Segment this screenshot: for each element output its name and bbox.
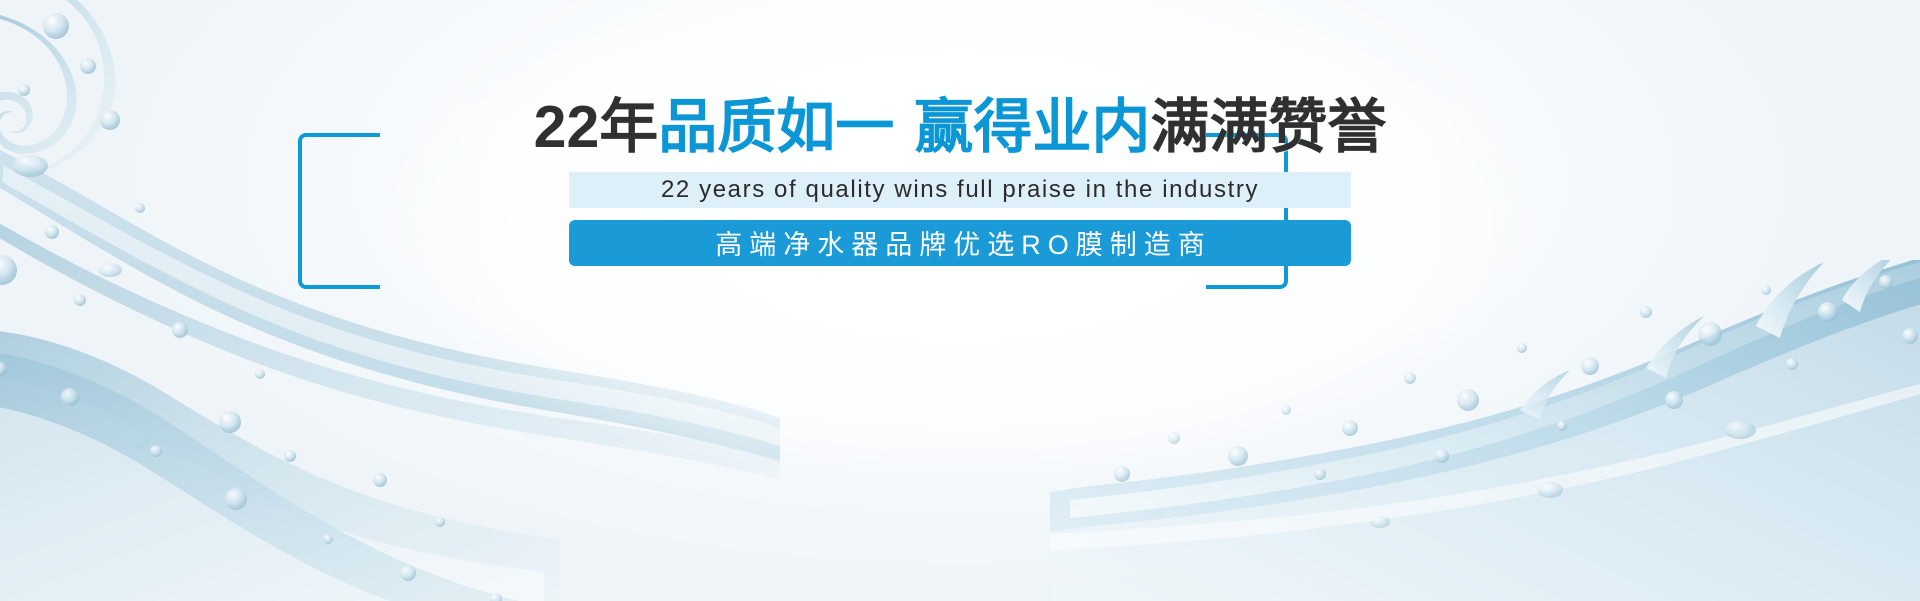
banner-tagline-text: 高端净水器品牌优选RO膜制造商 <box>708 223 1212 262</box>
center-vignette <box>0 0 1920 601</box>
banner-subtitle-text: 22 years of quality wins full praise in … <box>661 176 1259 204</box>
headline-segment-3: 赢得业内 <box>914 94 1150 160</box>
hero-banner: 22年品质如一赢得业内满满赞誉 22 years of quality wins… <box>0 0 1920 601</box>
banner-subtitle-band: 22 years of quality wins full praise in … <box>569 172 1351 208</box>
banner-content: 22年品质如一赢得业内满满赞誉 22 years of quality wins… <box>0 96 1920 266</box>
banner-headline: 22年品质如一赢得业内满满赞誉 <box>534 96 1387 159</box>
headline-segment-2: 品质如一 <box>658 94 894 160</box>
banner-tagline-bar: 高端净水器品牌优选RO膜制造商 <box>569 220 1351 266</box>
headline-segment-1: 22年 <box>534 94 659 160</box>
headline-segment-4: 满满赞誉 <box>1150 94 1386 160</box>
